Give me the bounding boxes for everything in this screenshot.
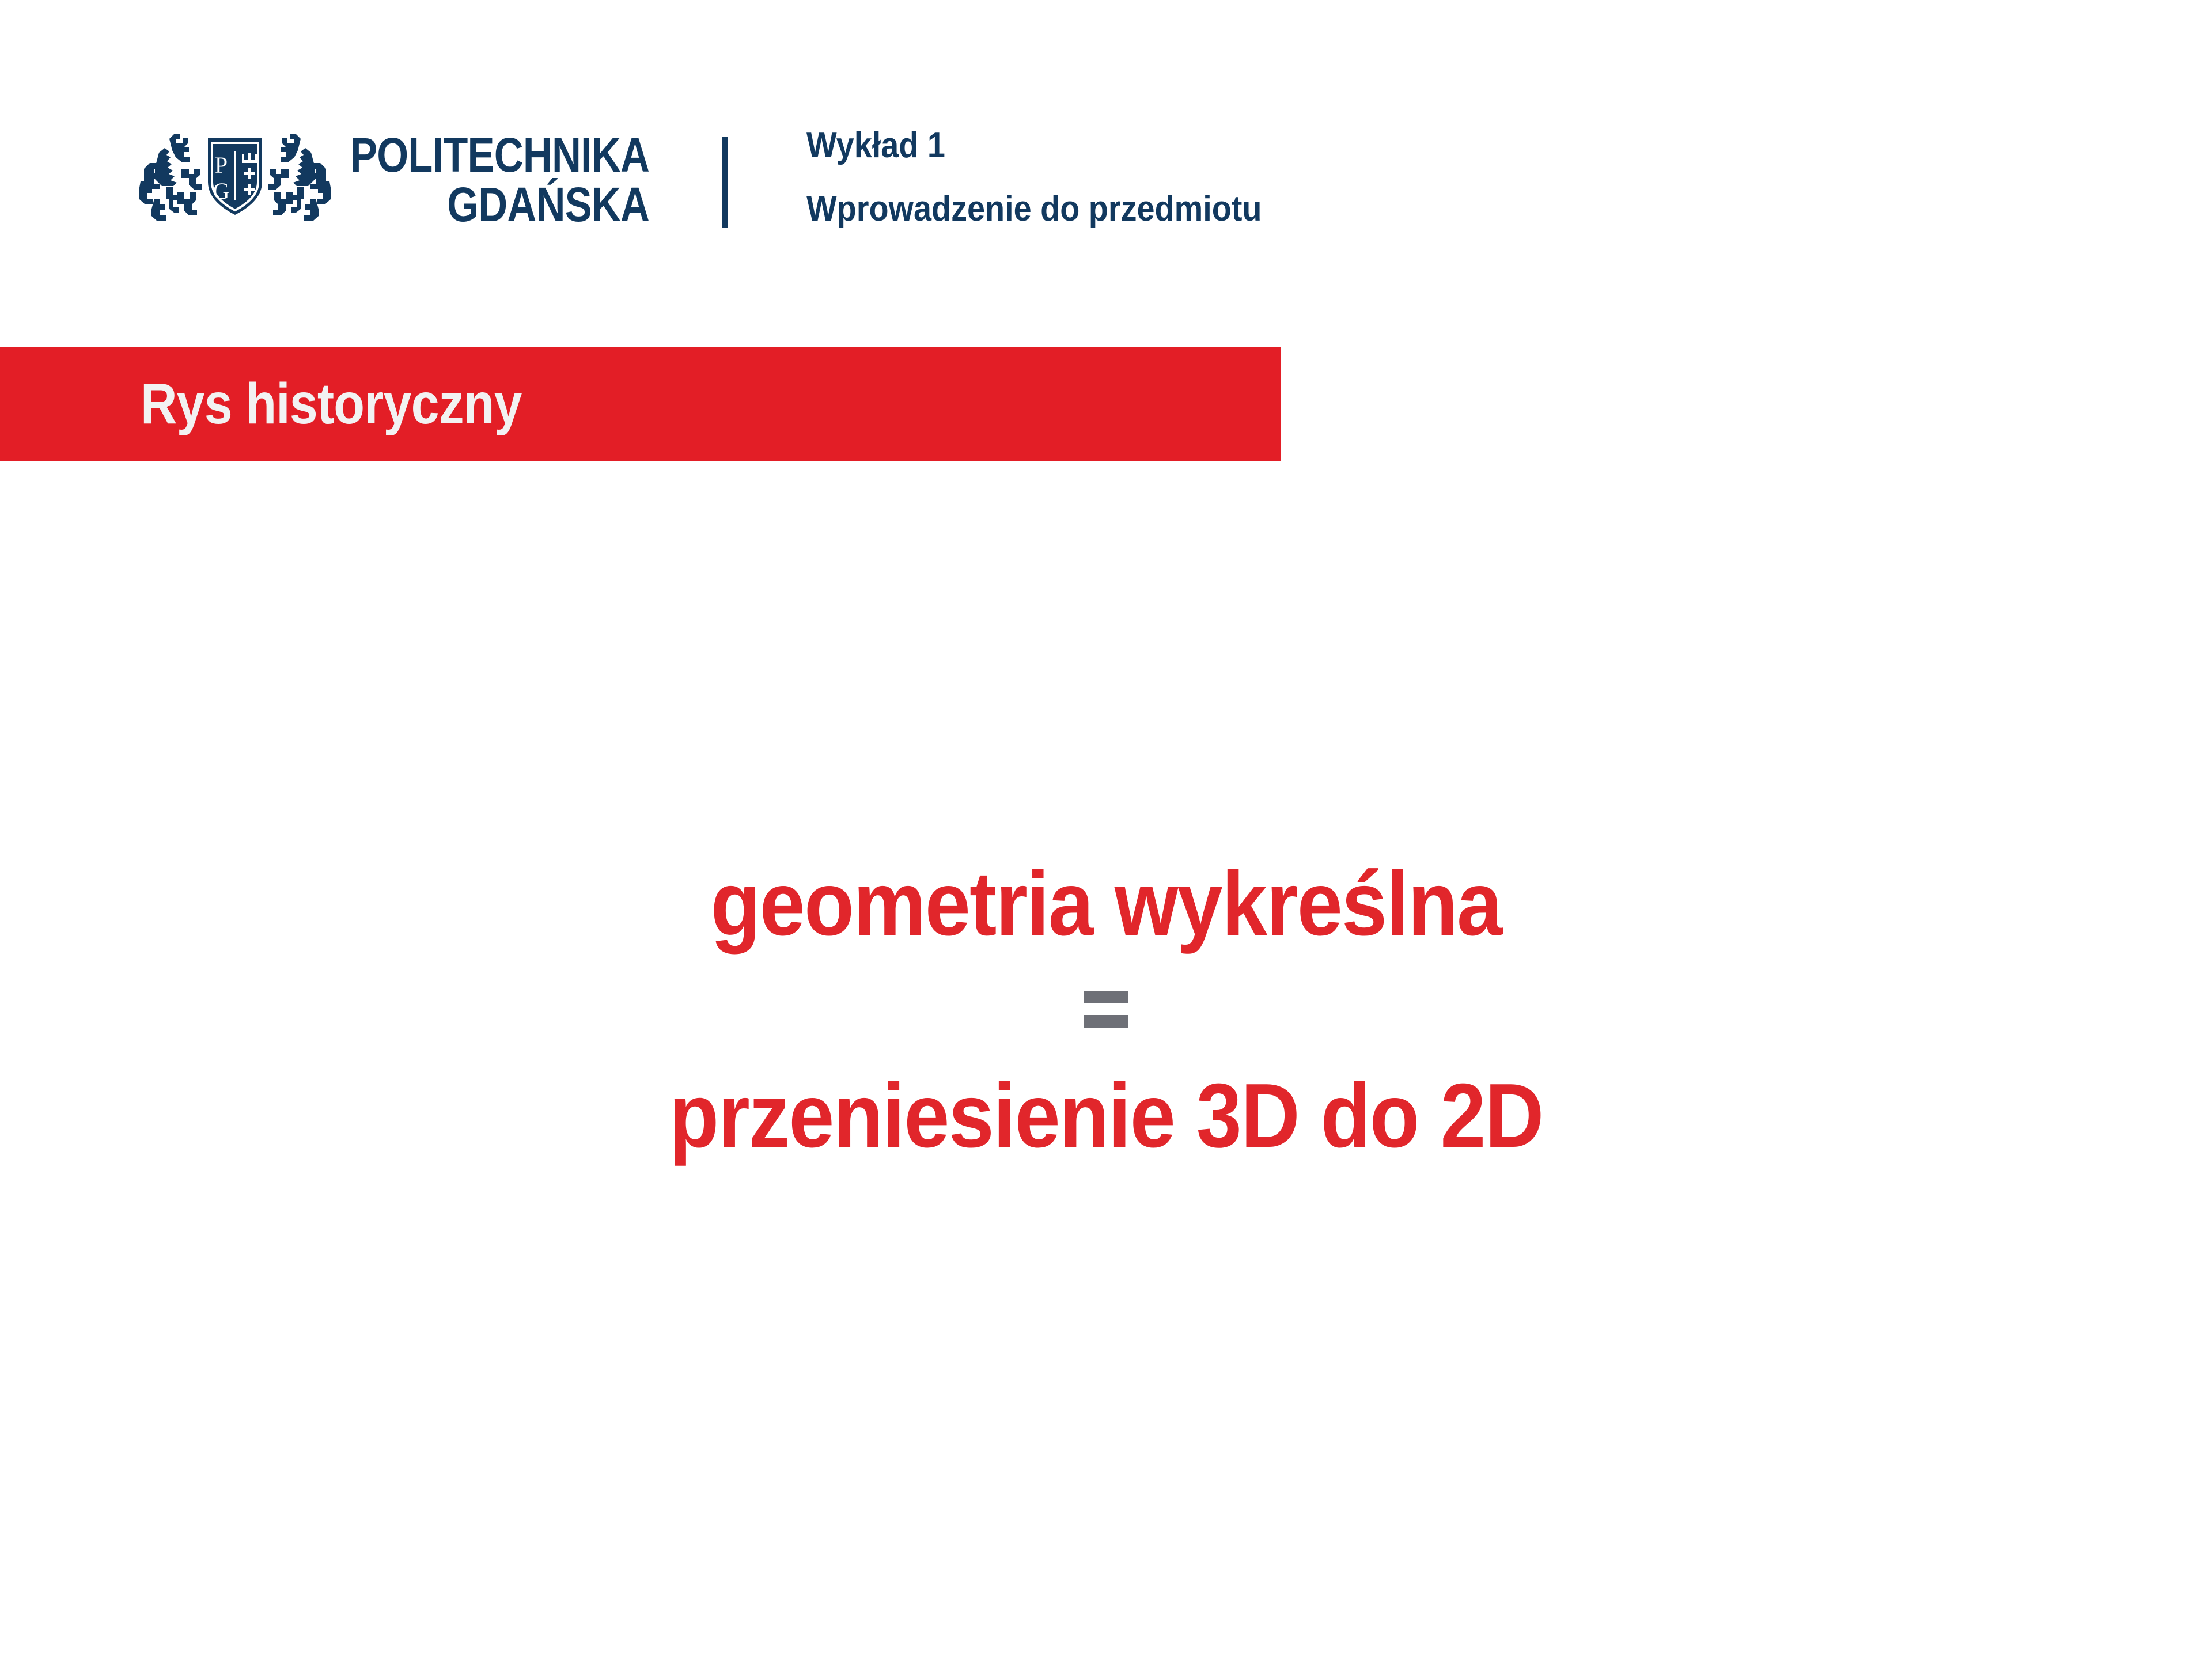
svg-text:G: G	[213, 178, 230, 204]
pg-coat-of-arms-logo: P G	[131, 118, 339, 242]
lecture-meta: Wykład 1 Wprowadzenie do przedmiotu	[806, 128, 1262, 227]
equation-result: przeniesienie 3D do 2D	[111, 1070, 2101, 1161]
equals-bar-top	[1084, 991, 1128, 1003]
brand-block: P G	[131, 118, 706, 242]
lecture-number: Wykład 1	[806, 128, 1262, 164]
institution-name-line-2: GDAŃSKA	[350, 180, 649, 230]
institution-name-line-1: POLITECHNIKA	[350, 131, 649, 180]
equals-bar-bottom	[1084, 1015, 1128, 1028]
slide-header: P G	[0, 0, 2212, 346]
svg-text:P: P	[215, 152, 228, 178]
header-divider	[722, 137, 728, 228]
slide-body: geometria wykreślna przeniesienie 3D do …	[0, 461, 2212, 1659]
equation-term: geometria wykreślna	[111, 858, 2101, 949]
section-title: Rys historyczny	[141, 375, 522, 433]
equation-stack: geometria wykreślna przeniesienie 3D do …	[0, 858, 2212, 1161]
institution-wordmark: POLITECHNIKA GDAŃSKA	[350, 131, 649, 229]
equals-icon	[0, 991, 2212, 1028]
lecture-subtitle: Wprowadzenie do przedmiotu	[806, 191, 1262, 227]
equals-glyph	[1084, 991, 1128, 1028]
section-banner: Rys historyczny	[0, 347, 1281, 461]
